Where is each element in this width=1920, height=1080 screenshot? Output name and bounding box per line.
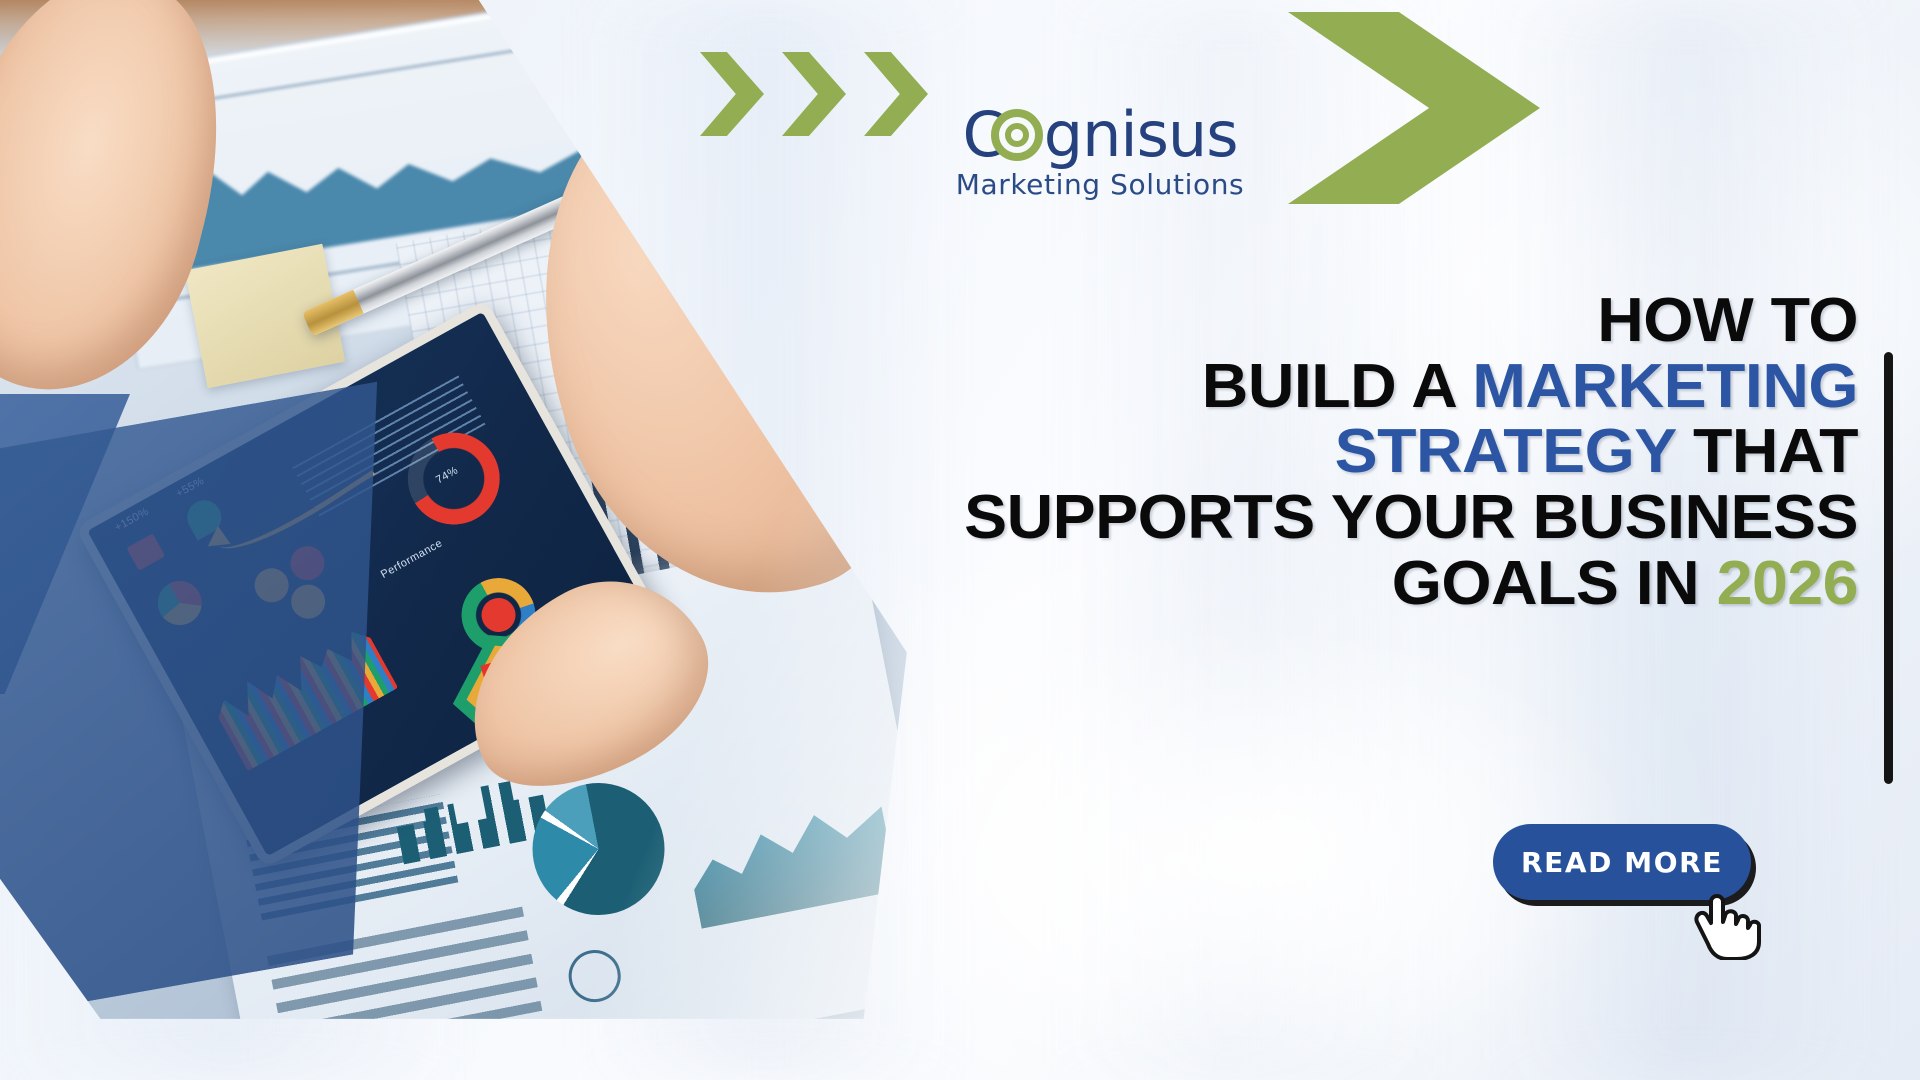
logo-wordmark-tail: gnisus [1044,104,1238,166]
headline-highlight-year: 2026 [1717,549,1858,618]
headline-text: SUPPORTS YOUR BUSINESS [964,483,1858,552]
vertical-divider [1884,352,1893,784]
target-circle-icon [991,109,1043,161]
headline-text: HOW TO [1597,286,1858,355]
tablet-performance-label: Performance [379,537,445,581]
headline-text: BUILD A [1202,352,1472,421]
headline-text: THAT [1676,417,1858,486]
chevron-group [700,52,928,136]
logo-tagline: Marketing Solutions [935,168,1265,201]
headline-text: GOALS IN [1392,549,1717,618]
chevron-right-large-icon [1288,12,1540,204]
page-title: HOW TO BUILD A MARKETING STRATEGY THAT S… [766,288,1858,617]
marketing-banner: Performance +150% +55% 74% C gnisus Mark… [0,0,1920,1080]
headline-line-3: STRATEGY THAT [722,419,1858,485]
chevron-right-icon [700,52,764,136]
logo-wordmark: C gnisus [935,104,1265,166]
headline-highlight-strategy: STRATEGY [1335,417,1676,486]
pointing-hand-cursor-icon [1691,876,1761,960]
chevron-right-icon [782,52,846,136]
headline-line-4: SUPPORTS YOUR BUSINESS [722,485,1858,551]
headline-line-1: HOW TO [722,288,1858,354]
headline-highlight-marketing: MARKETING [1472,352,1858,421]
headline-line-5: GOALS IN 2026 [722,551,1858,617]
headline-line-2: BUILD A MARKETING [722,354,1858,420]
brand-logo[interactable]: C gnisus Marketing Solutions [935,104,1265,201]
chevron-right-icon [864,52,928,136]
cta-container: READ MORE [1493,824,1751,900]
